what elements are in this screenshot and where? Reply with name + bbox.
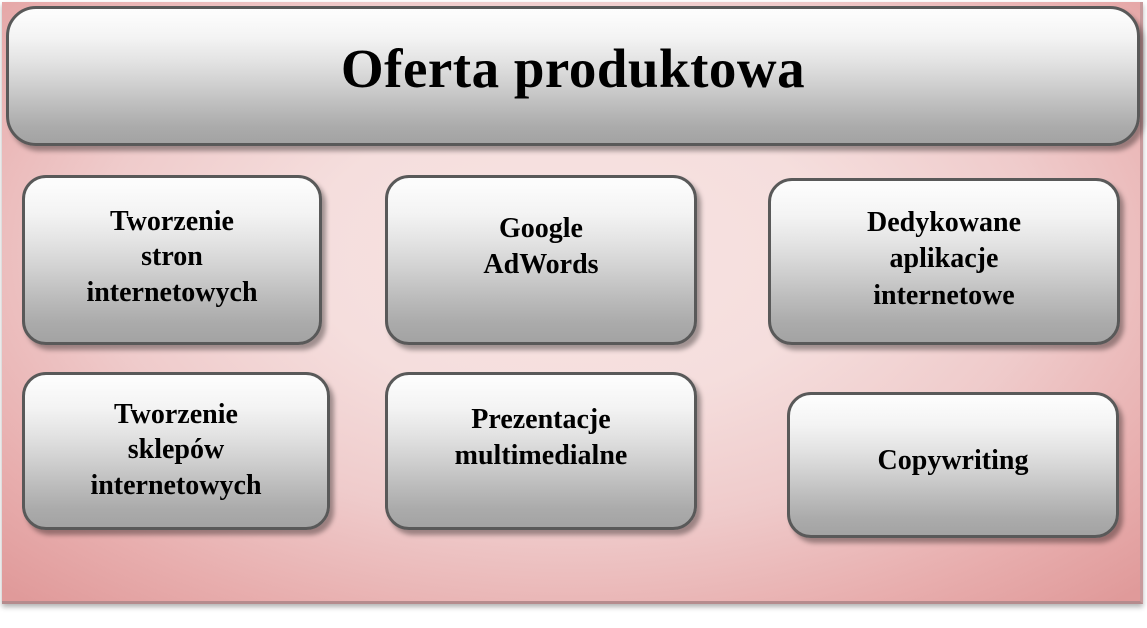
card-prezentacje-multimedialne[interactable]: Prezentacje multimedialne <box>385 372 697 530</box>
card-label: Tworzenie stron internetowych <box>78 204 265 316</box>
card-tworzenie-sklepow-internetowych[interactable]: Tworzenie sklepów internetowych <box>22 372 330 530</box>
card-label: Dedykowane aplikacje internetowe <box>859 205 1029 318</box>
card-label: Google AdWords <box>475 211 606 310</box>
card-label: Prezentacje multimedialne <box>447 402 636 501</box>
slide-title-banner: Oferta produktowa <box>6 6 1140 146</box>
card-dedykowane-aplikacje-internetowe[interactable]: Dedykowane aplikacje internetowe <box>768 178 1120 345</box>
page-title: Oferta produktowa <box>341 41 805 112</box>
card-copywriting[interactable]: Copywriting <box>787 392 1119 538</box>
card-label: Tworzenie sklepów internetowych <box>82 397 269 505</box>
card-google-adwords[interactable]: Google AdWords <box>385 175 697 345</box>
slide-canvas: Oferta produktowa Tworzenie stron intern… <box>0 0 1147 628</box>
card-tworzenie-stron-internetowych[interactable]: Tworzenie stron internetowych <box>22 175 322 345</box>
card-label: Copywriting <box>870 443 1037 487</box>
